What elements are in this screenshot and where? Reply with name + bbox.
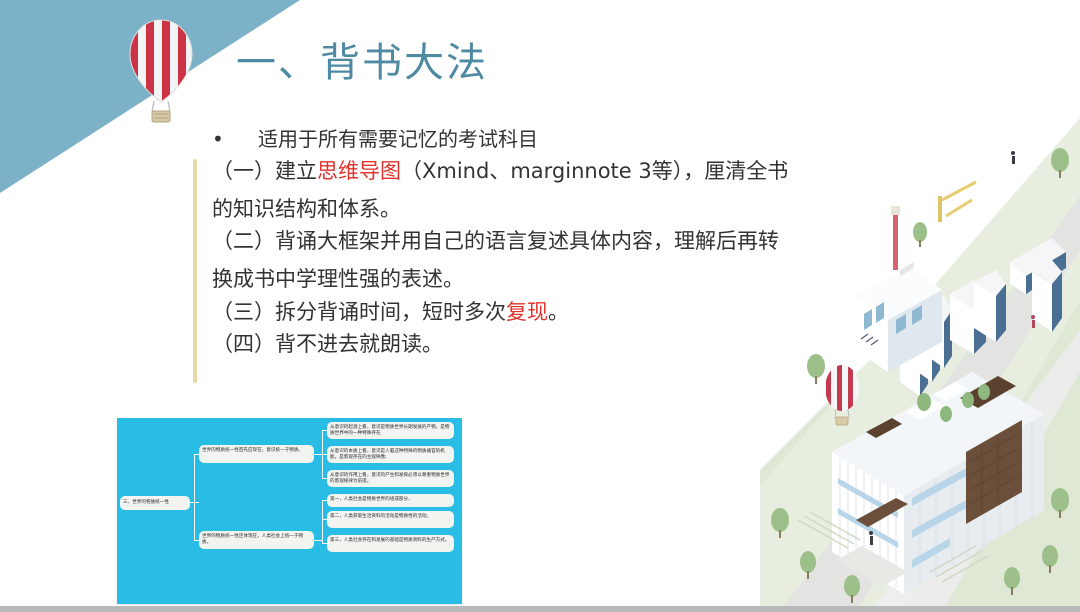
hot-air-balloon-icon	[126, 18, 196, 126]
page-title: 一、背书大法	[236, 40, 488, 86]
mindmap-leaf-node: 第二，人类获取生活资料的活动是物质性的活动。	[327, 511, 454, 528]
body-line-bullet: •适用于所有需要记忆的考试科目	[212, 124, 912, 154]
mindmap-branch-node: 世界的物质统一性首先应现在，意识统一于物质。	[199, 445, 314, 463]
body-line-2: （一）建立思维导图（Xmind、marginnote 3等），厘清全书	[212, 156, 912, 186]
mindmap-leaf-node: 第一，人类社会是物质世界的组成部分、	[327, 494, 454, 507]
body-line-6-suffix: 。	[548, 300, 569, 324]
body-line-6: （三）拆分背诵时间，短时多次复现。	[212, 296, 912, 328]
presentation-slide: 一、背书大法 •适用于所有需要记忆的考试科目 （一）建立思维导图（Xmind、m…	[0, 0, 1080, 612]
mindmap-leaf-node: 从意识的作用上看，意识的产生和发挥必须以尊重物质世界的客观规律为前提。	[327, 470, 454, 487]
body-line-3: 的知识结构和体系。	[212, 192, 912, 226]
mindmap-leaf-node: 从意识的本质上看，意识是人脑这种特殊的物质器官的机能，是客观存在的主观映像;	[327, 446, 454, 463]
body-line-4: （二）背诵大框架并用自己的语言复述具体内容，理解后再转	[212, 226, 912, 256]
mindmap-connector	[194, 454, 195, 540]
mindmap-leaf-node: 从意识的起源上看，意识是物质世界长期发展的产物，是物质世界中的一种特殊存在	[327, 422, 454, 439]
bullet-marker: •	[212, 124, 258, 154]
mindmap-image: 三、世界的物质统一性 世界的物质统一性首先应现在，意识统一于物质。 世界的物质统…	[117, 418, 462, 604]
body-line-2-suffix: （Xmind、marginnote 3等），厘清全书	[401, 159, 788, 183]
bottom-bar	[0, 606, 1080, 612]
body-line-7: （四）背不进去就朗读。	[212, 328, 912, 360]
mindmap-root-node: 三、世界的物质统一性	[120, 496, 190, 510]
slide-body-text: •适用于所有需要记忆的考试科目 （一）建立思维导图（Xmind、marginno…	[212, 124, 912, 360]
body-line-1: 适用于所有需要记忆的考试科目	[258, 127, 538, 151]
accent-divider-line	[193, 159, 197, 383]
mindmap-branch-node: 世界的物质统一性还体现在，人类社会上统一于物质。	[199, 531, 314, 549]
mindmap-leaf-node: 第三，人类社会存在和发展的基础是物质资料的生产方式。	[327, 535, 454, 552]
body-line-2-highlight: 思维导图	[317, 159, 401, 183]
body-line-5: 换成书中学理性强的表述。	[212, 262, 912, 296]
body-line-2-prefix: （一）建立	[212, 159, 317, 183]
mindmap-connector	[322, 500, 323, 543]
body-line-6-prefix: （三）拆分背诵时间，短时多次	[212, 300, 506, 324]
body-line-6-highlight: 复现	[506, 300, 548, 324]
